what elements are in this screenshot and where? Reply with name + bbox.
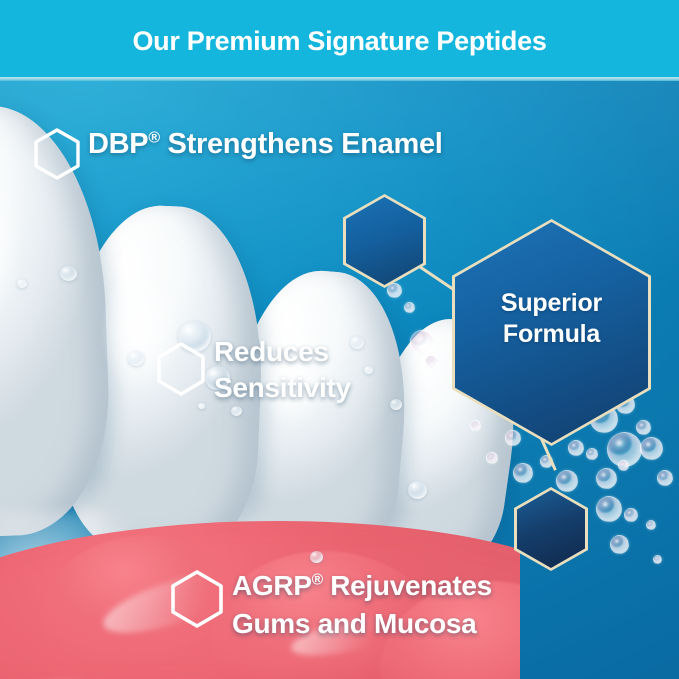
feature-label-sensitivity: Reduces Sensitivity <box>214 334 351 406</box>
registered-mark-icon: ® <box>148 129 159 146</box>
bubble <box>646 520 656 530</box>
feature-brand-dbp: DBP <box>88 128 148 160</box>
header-divider <box>0 77 679 81</box>
bubble <box>618 460 629 471</box>
hexagon-outline-icon <box>156 342 206 396</box>
bubble <box>657 470 673 486</box>
water-droplet <box>128 351 144 366</box>
bubble <box>505 430 521 446</box>
hexagon-outline-icon <box>33 128 81 180</box>
superior-formula-label: Superior Formula <box>452 288 651 350</box>
water-droplet <box>364 366 373 374</box>
superior-formula-line2: Formula <box>452 319 651 350</box>
bubble <box>640 437 663 460</box>
feature-brand-agrp: AGRP <box>232 570 312 601</box>
water-droplet <box>310 551 323 563</box>
bubble <box>470 420 481 431</box>
water-droplet <box>198 403 205 409</box>
water-droplet <box>408 481 427 499</box>
bubble <box>624 508 638 522</box>
bubble <box>636 420 651 435</box>
bubble <box>513 463 533 483</box>
feature-label-agrp: AGRP® Rejuvenates Gums and Mucosa <box>232 567 492 643</box>
superior-formula-line1: Superior <box>452 288 651 319</box>
bubble <box>425 355 438 368</box>
water-droplet <box>60 266 77 281</box>
bubble <box>596 496 622 522</box>
bubble <box>556 470 578 492</box>
product-infographic: Superior Formula Our Premium Signature P… <box>0 0 679 679</box>
bubble <box>610 535 629 554</box>
header-band: Our Premium Signature Peptides <box>0 0 679 77</box>
feature-text-dbp: Strengthens Enamel <box>160 128 443 160</box>
page-title: Our Premium Signature Peptides <box>0 26 679 56</box>
bubble <box>653 555 662 564</box>
water-droplet <box>231 406 242 416</box>
water-droplet <box>350 336 364 349</box>
bubble <box>596 468 617 489</box>
bubble <box>486 452 498 464</box>
bubble <box>410 330 434 354</box>
bubble <box>568 440 584 456</box>
water-droplet <box>390 399 402 410</box>
registered-mark-icon: ® <box>312 572 323 589</box>
water-droplet <box>17 279 27 288</box>
hexagon-outline-icon <box>170 570 224 628</box>
feature-label-dbp: DBP® Strengthens Enamel <box>88 126 443 162</box>
bubble <box>404 302 415 313</box>
bubble <box>586 448 598 460</box>
